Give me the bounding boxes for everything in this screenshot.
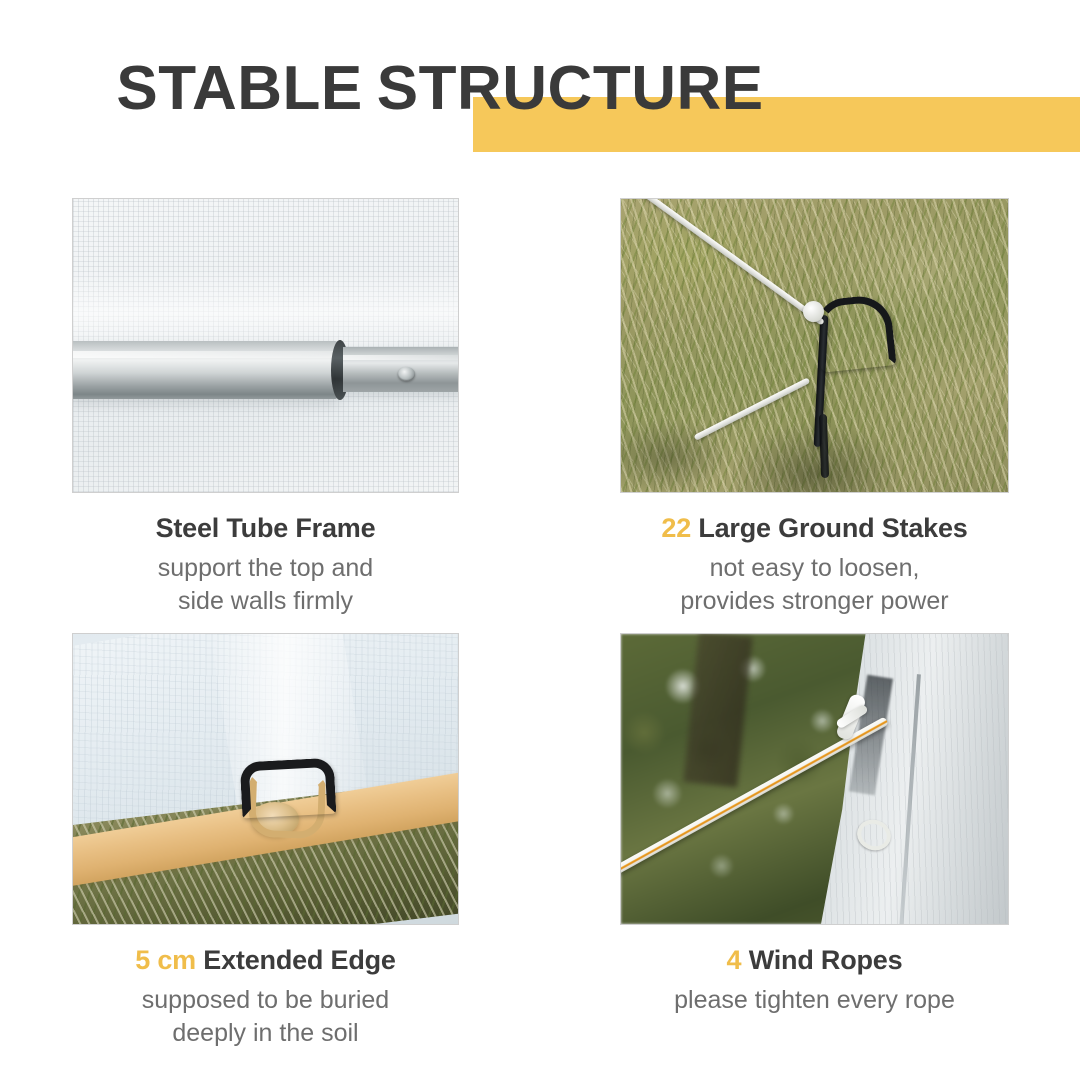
feature-card-wind-ropes: 4 Wind Ropes please tighten every rope [620, 633, 1009, 925]
feature-caption-steel-tube-frame: Steel Tube Frame support the top and sid… [72, 493, 459, 618]
feature-description-line-2: side walls firmly [72, 585, 459, 618]
feature-heading-text: Extended Edge [203, 945, 395, 975]
feature-heading: 22 Large Ground Stakes [620, 511, 1009, 545]
feature-caption-wind-ropes: 4 Wind Ropes please tighten every rope [620, 925, 1009, 1017]
feature-card-extended-edge: 5 cm Extended Edge supposed to be buried… [72, 633, 459, 925]
feature-heading: 4 Wind Ropes [620, 943, 1009, 977]
feature-image-extended-edge [72, 633, 459, 925]
feature-caption-extended-edge: 5 cm Extended Edge supposed to be buried… [72, 925, 459, 1050]
feature-description-line-1: not easy to loosen, [620, 552, 1009, 585]
grass-shadow-overlay [621, 199, 1008, 492]
feature-quantity: 5 cm [135, 945, 196, 975]
feature-description: supposed to be buried deeply in the soil [72, 984, 459, 1050]
feature-grid: Steel Tube Frame support the top and sid… [0, 0, 1080, 1080]
feature-card-steel-tube-frame: Steel Tube Frame support the top and sid… [72, 198, 459, 493]
feature-image-steel-tube-frame [72, 198, 459, 493]
feature-description-line-1: supposed to be buried [72, 984, 459, 1017]
feature-heading: 5 cm Extended Edge [72, 943, 459, 977]
feature-image-wind-ropes [620, 633, 1009, 925]
rope-knot-icon [803, 301, 824, 322]
feature-heading-text: Steel Tube Frame [156, 513, 376, 543]
tube-rivet-icon [398, 367, 415, 381]
feature-card-large-ground-stakes: 22 Large Ground Stakes not easy to loose… [620, 198, 1009, 493]
infographic-page: STABLESTRUCTURE Steel Tube Frame support… [0, 0, 1080, 1080]
steel-tube-large-icon [72, 341, 343, 399]
feature-image-large-ground-stakes [620, 198, 1009, 493]
feature-description: please tighten every rope [620, 984, 1009, 1017]
feature-caption-large-ground-stakes: 22 Large Ground Stakes not easy to loose… [620, 493, 1009, 618]
feature-description: not easy to loosen, provides stronger po… [620, 552, 1009, 618]
feature-heading: Steel Tube Frame [72, 511, 459, 545]
feature-description-line-1: please tighten every rope [620, 984, 1009, 1017]
feature-quantity: 22 [661, 513, 691, 543]
feature-description-line-2: provides stronger power [620, 585, 1009, 618]
feature-description-line-1: support the top and [72, 552, 459, 585]
feature-description: support the top and side walls firmly [72, 552, 459, 618]
feature-heading-text: Large Ground Stakes [698, 513, 967, 543]
feature-quantity: 4 [727, 945, 742, 975]
black-d-ring-icon [240, 758, 337, 819]
feature-description-line-2: deeply in the soil [72, 1017, 459, 1050]
feature-heading-text: Wind Ropes [749, 945, 903, 975]
